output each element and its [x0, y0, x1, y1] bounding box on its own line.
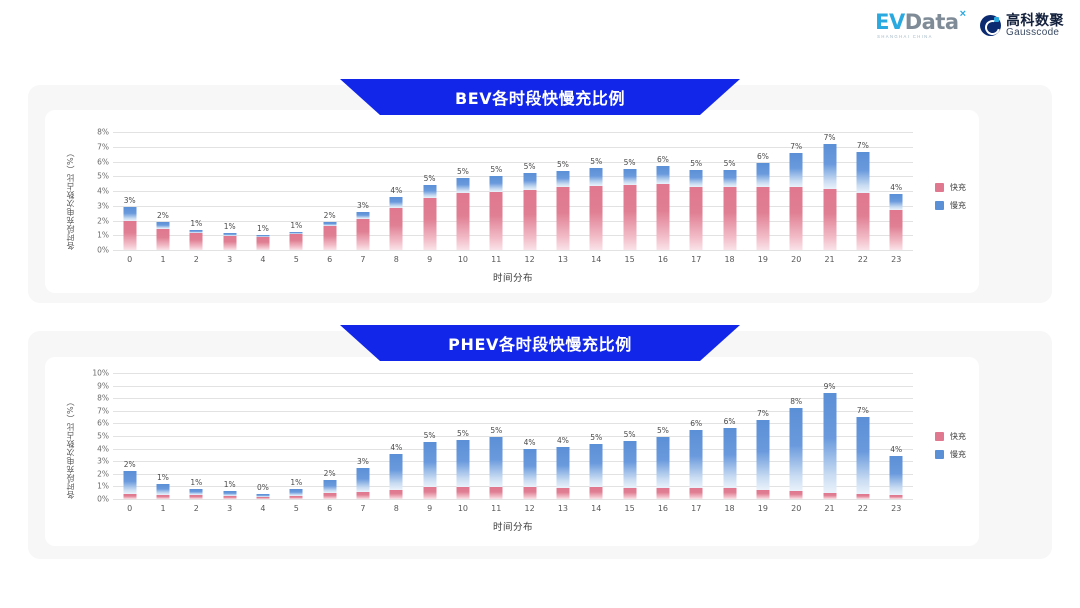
- bev-bar-group[interactable]: 3%0: [113, 132, 146, 250]
- bev-slow-charge-segment: [423, 185, 436, 198]
- phev-bar-group[interactable]: 9%21: [813, 373, 846, 499]
- bev-x-tick-label: 9: [427, 255, 432, 264]
- phev-slow-charge-segment: [123, 471, 136, 494]
- bev-stacked-bar[interactable]: [356, 212, 369, 250]
- phev-slow-charge-segment: [156, 484, 169, 495]
- bev-bar-group[interactable]: 5%18: [713, 132, 746, 250]
- bev-bar-value-label: 5%: [424, 174, 436, 183]
- bev-stacked-bar[interactable]: [256, 235, 269, 250]
- phev-slow-charge-segment: [656, 437, 669, 488]
- phev-slow-charge-segment: [423, 442, 436, 487]
- bev-x-tick-label: 5: [294, 255, 299, 264]
- bev-stacked-bar[interactable]: [190, 230, 203, 250]
- phev-x-tick-label: 13: [558, 504, 568, 513]
- bev-bar-group[interactable]: 5%14: [580, 132, 613, 250]
- bev-bar-group[interactable]: 1%3: [213, 132, 246, 250]
- bev-fast-charge-segment: [490, 192, 503, 250]
- bev-y-tick-label: 0%: [97, 246, 109, 255]
- phev-stacked-bar[interactable]: [290, 489, 303, 499]
- phev-bar-group[interactable]: 1%3: [213, 373, 246, 499]
- phev-bar-value-label: 5%: [490, 426, 502, 435]
- bev-bar-group[interactable]: 1%2: [180, 132, 213, 250]
- phev-stacked-bar[interactable]: [423, 442, 436, 499]
- phev-fast-charge-segment: [723, 488, 736, 499]
- phev-stacked-bar[interactable]: [323, 480, 336, 499]
- phev-stacked-bar[interactable]: [156, 484, 169, 499]
- phev-stacked-bar[interactable]: [856, 417, 869, 499]
- bev-x-tick-label: 23: [891, 255, 901, 264]
- bev-x-axis-label: 时间分布: [113, 270, 913, 284]
- phev-bar-group[interactable]: 4%12: [513, 373, 546, 499]
- bev-y-tick-label: 6%: [97, 157, 109, 166]
- phev-stacked-bar[interactable]: [790, 408, 803, 499]
- bev-bar-value-label: 4%: [390, 186, 402, 195]
- bev-slow-charge-segment: [156, 222, 169, 229]
- bev-fast-charge-segment: [656, 184, 669, 250]
- evdata-wordmark: EVData: [875, 12, 958, 33]
- bev-bar-group[interactable]: 5%15: [613, 132, 646, 250]
- phev-y-axis-label: 各时段充电次数占比（%）: [65, 373, 76, 499]
- phev-bar-value-label: 8%: [790, 397, 802, 406]
- bev-x-tick-label: 18: [724, 255, 734, 264]
- phev-y-tick-label: 10%: [92, 369, 109, 378]
- bev-bar-value-label: 5%: [590, 157, 602, 166]
- phev-slow-charge-segment: [456, 440, 469, 487]
- phev-stacked-bar[interactable]: [390, 454, 403, 499]
- bev-x-tick-label: 0: [127, 255, 132, 264]
- bev-bar-group[interactable]: 4%23: [880, 132, 913, 250]
- bev-bar-group[interactable]: 5%17: [680, 132, 713, 250]
- bev-stacked-bar[interactable]: [523, 173, 536, 250]
- phev-bar-value-label: 5%: [624, 430, 636, 439]
- phev-fast-charge-segment: [590, 487, 603, 499]
- phev-bar-group[interactable]: 5%11: [480, 373, 513, 499]
- bev-chart-panel: 各时段充电次数占比（%）0%1%2%3%4%5%6%7%8%3%02%11%21…: [45, 110, 979, 293]
- bev-x-tick-label: 14: [591, 255, 601, 264]
- bev-fast-charge-segment: [856, 193, 869, 250]
- evdata-logo: EVData × SHANGHAI CHINA: [875, 12, 966, 39]
- phev-stacked-bar[interactable]: [523, 449, 536, 499]
- bev-slow-charge-segment: [356, 212, 369, 219]
- bev-stacked-bar[interactable]: [623, 169, 636, 250]
- bev-slow-charge-segment: [123, 207, 136, 221]
- gausscode-mark-icon: [980, 15, 1001, 36]
- phev-x-tick-label: 20: [791, 504, 801, 513]
- bev-stacked-bar[interactable]: [723, 170, 736, 250]
- bev-x-tick-label: 4: [260, 255, 265, 264]
- bev-bar-group[interactable]: 5%13: [546, 132, 579, 250]
- phev-stacked-bar[interactable]: [256, 494, 269, 499]
- phev-x-tick-label: 21: [824, 504, 834, 513]
- phev-stacked-bar[interactable]: [756, 420, 769, 499]
- gausscode-en-name: Gausscode: [1006, 28, 1064, 39]
- phev-x-tick-label: 15: [624, 504, 634, 513]
- phev-bar-group[interactable]: 3%7: [346, 373, 379, 499]
- phev-y-tick-label: 3%: [97, 457, 109, 466]
- bev-fast-charge-segment: [590, 186, 603, 250]
- bev-bar-value-label: 1%: [190, 219, 202, 228]
- phev-bar-value-label: 5%: [424, 431, 436, 440]
- bev-slow-charge-segment: [490, 176, 503, 191]
- phev-bar-value-label: 4%: [557, 436, 569, 445]
- bev-bar-value-label: 7%: [857, 141, 869, 150]
- phev-stacked-bar[interactable]: [123, 471, 136, 499]
- bev-stacked-bar[interactable]: [223, 233, 236, 250]
- phev-legend-item[interactable]: 快充: [935, 431, 966, 442]
- phev-bar-value-label: 3%: [357, 457, 369, 466]
- phev-chart-panel: 各时段充电次数占比（%）0%1%2%3%4%5%6%7%8%9%10%2%01%…: [45, 357, 979, 546]
- bev-title-banner: BEV各时段快慢充比例: [340, 79, 740, 115]
- phev-fast-charge-segment: [123, 494, 136, 499]
- bev-fast-charge-segment: [390, 208, 403, 250]
- bev-x-tick-label: 11: [491, 255, 501, 264]
- phev-slow-charge-segment: [790, 408, 803, 491]
- phev-fast-charge-segment: [423, 487, 436, 499]
- bev-y-tick-label: 7%: [97, 142, 109, 151]
- phev-y-tick-label: 2%: [97, 469, 109, 478]
- bev-fast-charge-segment: [690, 187, 703, 250]
- bev-stacked-bar[interactable]: [856, 152, 869, 250]
- bev-x-tick-label: 3: [227, 255, 232, 264]
- bev-x-tick-label: 1: [160, 255, 165, 264]
- bev-fast-charge-segment: [790, 187, 803, 250]
- bev-stacked-bar[interactable]: [556, 171, 569, 250]
- phev-legend-label: 快充: [950, 431, 966, 442]
- phev-x-tick-label: 9: [427, 504, 432, 513]
- bev-bar-series: 3%02%11%21%31%41%52%63%74%85%95%105%115%…: [113, 132, 913, 250]
- phev-slow-charge-segment: [623, 441, 636, 488]
- phev-bar-group[interactable]: 5%9: [413, 373, 446, 499]
- bev-x-tick-label: 8: [394, 255, 399, 264]
- phev-slow-charge-segment: [723, 428, 736, 488]
- bev-fast-charge-segment: [723, 187, 736, 250]
- logo-group: EVData × SHANGHAI CHINA 高科数聚 Gausscode: [875, 12, 1064, 39]
- phev-x-tick-label: 3: [227, 504, 232, 513]
- bev-fast-charge-segment: [890, 210, 903, 250]
- bev-bar-group[interactable]: 1%4: [246, 132, 279, 250]
- bev-bar-group[interactable]: 4%8: [380, 132, 413, 250]
- bev-bar-group[interactable]: 5%10: [446, 132, 479, 250]
- bev-stacked-bar[interactable]: [823, 144, 836, 250]
- phev-bar-group[interactable]: 5%14: [580, 373, 613, 499]
- bev-bar-group[interactable]: 6%19: [746, 132, 779, 250]
- phev-x-tick-label: 19: [758, 504, 768, 513]
- bev-y-tick-label: 1%: [97, 231, 109, 240]
- bev-bar-value-label: 2%: [324, 211, 336, 220]
- phev-stacked-bar[interactable]: [623, 441, 636, 499]
- phev-fast-charge-segment: [456, 487, 469, 499]
- phev-x-tick-label: 8: [394, 504, 399, 513]
- bev-y-axis-label: 各时段充电次数占比（%）: [65, 132, 76, 250]
- phev-slow-charge-segment: [490, 437, 503, 486]
- phev-x-tick-label: 4: [260, 504, 265, 513]
- bev-bar-value-label: 7%: [824, 133, 836, 142]
- bev-x-tick-label: 15: [624, 255, 634, 264]
- phev-bar-value-label: 5%: [657, 426, 669, 435]
- bev-fast-charge-segment: [290, 234, 303, 250]
- bev-legend: 快充慢充: [935, 182, 966, 211]
- bev-x-tick-label: 6: [327, 255, 332, 264]
- phev-y-tick-label: 9%: [97, 381, 109, 390]
- bev-x-tick-label: 13: [558, 255, 568, 264]
- phev-stacked-bar[interactable]: [456, 440, 469, 499]
- phev-y-tick-label: 7%: [97, 406, 109, 415]
- bev-stacked-bar[interactable]: [123, 207, 136, 250]
- phev-slow-charge-segment: [823, 393, 836, 493]
- bev-y-tick-label: 8%: [97, 128, 109, 137]
- phev-stacked-bar[interactable]: [556, 447, 569, 499]
- phev-slow-charge-segment: [556, 447, 569, 487]
- phev-bar-group[interactable]: 6%17: [680, 373, 713, 499]
- bev-fast-charge-segment: [223, 236, 236, 250]
- bev-gridline: [113, 250, 913, 251]
- bev-fast-charge-segment: [123, 221, 136, 250]
- phev-slow-charge-segment: [756, 420, 769, 490]
- bev-stacked-bar[interactable]: [490, 176, 503, 250]
- bev-fast-charge-segment: [756, 187, 769, 250]
- bev-bar-value-label: 5%: [457, 167, 469, 176]
- bev-x-tick-label: 12: [525, 255, 535, 264]
- phev-bar-value-label: 1%: [190, 478, 202, 487]
- phev-x-tick-label: 16: [658, 504, 668, 513]
- phev-stacked-bar[interactable]: [356, 468, 369, 500]
- phev-bar-group[interactable]: 2%0: [113, 373, 146, 499]
- phev-bar-value-label: 5%: [457, 429, 469, 438]
- phev-slow-charge-segment: [290, 489, 303, 496]
- phev-bar-group[interactable]: 5%10: [446, 373, 479, 499]
- bev-stacked-bar[interactable]: [656, 166, 669, 250]
- bev-stacked-bar[interactable]: [790, 153, 803, 250]
- phev-stacked-bar[interactable]: [223, 491, 236, 499]
- bev-stacked-bar[interactable]: [323, 222, 336, 250]
- phev-bar-value-label: 4%: [524, 438, 536, 447]
- bev-slow-charge-segment: [856, 152, 869, 193]
- phev-fast-charge-segment: [823, 493, 836, 499]
- bev-fast-charge-segment: [456, 193, 469, 250]
- phev-bar-group[interactable]: 5%16: [646, 373, 679, 499]
- bev-fast-charge-segment: [423, 198, 436, 250]
- phev-stacked-bar[interactable]: [190, 489, 203, 499]
- phev-stacked-bar[interactable]: [890, 456, 903, 499]
- bev-y-tick-label: 5%: [97, 172, 109, 181]
- phev-bar-value-label: 0%: [257, 483, 269, 492]
- phev-chart: 各时段充电次数占比（%）0%1%2%3%4%5%6%7%8%9%10%2%01%…: [45, 357, 979, 546]
- phev-fast-charge-segment: [323, 493, 336, 499]
- phev-bar-value-label: 1%: [290, 478, 302, 487]
- bev-title-text: BEV各时段快慢充比例: [455, 85, 625, 109]
- bev-bar-group[interactable]: 5%12: [513, 132, 546, 250]
- phev-bar-value-label: 2%: [124, 460, 136, 469]
- phev-bar-value-label: 4%: [890, 445, 902, 454]
- phev-fast-charge-segment: [156, 495, 169, 499]
- phev-fast-charge-segment: [390, 490, 403, 499]
- bev-stacked-bar[interactable]: [756, 163, 769, 250]
- phev-x-tick-label: 17: [691, 504, 701, 513]
- phev-slow-charge-segment: [390, 454, 403, 490]
- phev-y-tick-label: 6%: [97, 419, 109, 428]
- phev-fast-charge-segment: [223, 496, 236, 499]
- bev-slow-charge-segment: [656, 166, 669, 184]
- phev-stacked-bar[interactable]: [656, 437, 669, 499]
- phev-slow-charge-segment: [590, 444, 603, 488]
- bev-legend-item[interactable]: 慢充: [935, 200, 966, 211]
- bev-y-tick-label: 2%: [97, 216, 109, 225]
- phev-x-tick-label: 14: [591, 504, 601, 513]
- phev-bar-value-label: 6%: [724, 417, 736, 426]
- phev-x-tick-label: 18: [724, 504, 734, 513]
- phev-x-tick-label: 2: [194, 504, 199, 513]
- phev-x-tick-label: 6: [327, 504, 332, 513]
- evdata-x-icon: ×: [960, 9, 966, 20]
- phev-bar-value-label: 5%: [590, 433, 602, 442]
- bev-x-tick-label: 16: [658, 255, 668, 264]
- bev-bar-group[interactable]: 3%7: [346, 132, 379, 250]
- phev-fast-charge-segment: [190, 495, 203, 499]
- phev-y-tick-label: 5%: [97, 432, 109, 441]
- phev-gridline: [113, 499, 913, 500]
- bev-bar-value-label: 5%: [557, 160, 569, 169]
- phev-bar-group[interactable]: 2%6: [313, 373, 346, 499]
- phev-slow-charge-segment: [523, 449, 536, 488]
- phev-bar-value-label: 7%: [857, 406, 869, 415]
- phev-fast-charge-segment: [656, 488, 669, 499]
- bev-fast-charge-segment: [556, 187, 569, 250]
- phev-bar-value-label: 1%: [157, 473, 169, 482]
- phev-fast-charge-segment: [256, 497, 269, 499]
- phev-slow-charge-segment: [890, 456, 903, 495]
- phev-x-tick-label: 11: [491, 504, 501, 513]
- bev-stacked-bar[interactable]: [156, 222, 169, 250]
- bev-slow-charge-segment: [590, 168, 603, 186]
- bev-bar-group[interactable]: 6%16: [646, 132, 679, 250]
- phev-fast-charge-segment: [756, 490, 769, 499]
- bev-stacked-bar[interactable]: [590, 168, 603, 250]
- evdata-data-text: Data: [905, 10, 959, 34]
- evdata-ev-text: EV: [875, 10, 905, 34]
- phev-bar-group[interactable]: 6%18: [713, 373, 746, 499]
- phev-stacked-bar[interactable]: [490, 437, 503, 499]
- bev-y-tick-label: 3%: [97, 201, 109, 210]
- gausscode-cn-name: 高科数聚: [1006, 13, 1064, 28]
- bev-bar-group[interactable]: 7%22: [846, 132, 879, 250]
- legend-swatch-icon: [935, 432, 944, 441]
- bev-plot-area: 0%1%2%3%4%5%6%7%8%3%02%11%21%31%41%52%63…: [113, 132, 913, 250]
- bev-bar-value-label: 7%: [790, 142, 802, 151]
- phev-x-tick-label: 12: [525, 504, 535, 513]
- phev-bar-group[interactable]: 7%19: [746, 373, 779, 499]
- bev-bar-group[interactable]: 5%9: [413, 132, 446, 250]
- bev-fast-charge-segment: [623, 185, 636, 250]
- bev-bar-group[interactable]: 7%20: [780, 132, 813, 250]
- bev-slow-charge-segment: [690, 170, 703, 187]
- phev-bar-group[interactable]: 7%22: [846, 373, 879, 499]
- phev-bar-group[interactable]: 0%4: [246, 373, 279, 499]
- bev-stacked-bar[interactable]: [890, 194, 903, 250]
- bev-bar-group[interactable]: 5%11: [480, 132, 513, 250]
- phev-fast-charge-segment: [623, 488, 636, 499]
- phev-plot-area: 0%1%2%3%4%5%6%7%8%9%10%2%01%11%21%30%41%…: [113, 373, 913, 499]
- phev-legend-label: 慢充: [950, 449, 966, 460]
- phev-stacked-bar[interactable]: [590, 444, 603, 499]
- bev-x-tick-label: 20: [791, 255, 801, 264]
- phev-bar-group[interactable]: 4%8: [380, 373, 413, 499]
- phev-x-tick-label: 0: [127, 504, 132, 513]
- phev-stacked-bar[interactable]: [690, 430, 703, 499]
- bev-y-tick-label: 4%: [97, 187, 109, 196]
- bev-stacked-bar[interactable]: [390, 197, 403, 250]
- bev-bar-value-label: 6%: [757, 152, 769, 161]
- phev-legend-item[interactable]: 慢充: [935, 449, 966, 460]
- phev-stacked-bar[interactable]: [823, 393, 836, 499]
- phev-bar-group[interactable]: 4%23: [880, 373, 913, 499]
- legend-swatch-icon: [935, 183, 944, 192]
- bev-stacked-bar[interactable]: [690, 170, 703, 250]
- phev-bar-group[interactable]: 5%15: [613, 373, 646, 499]
- bev-x-tick-label: 17: [691, 255, 701, 264]
- bev-bar-value-label: 4%: [890, 183, 902, 192]
- bev-fast-charge-segment: [356, 219, 369, 250]
- bev-slow-charge-segment: [890, 194, 903, 210]
- phev-bar-group[interactable]: 1%2: [180, 373, 213, 499]
- bev-slow-charge-segment: [456, 178, 469, 193]
- bev-fast-charge-segment: [190, 233, 203, 250]
- phev-x-tick-label: 1: [160, 504, 165, 513]
- phev-fast-charge-segment: [290, 496, 303, 499]
- bev-bar-value-label: 1%: [290, 221, 302, 230]
- phev-bar-group[interactable]: 1%5: [280, 373, 313, 499]
- phev-bar-value-label: 9%: [824, 382, 836, 391]
- bev-chart: 各时段充电次数占比（%）0%1%2%3%4%5%6%7%8%3%02%11%21…: [45, 110, 979, 293]
- bev-slow-charge-segment: [390, 197, 403, 208]
- phev-fast-charge-segment: [523, 487, 536, 499]
- phev-bar-group[interactable]: 4%13: [546, 373, 579, 499]
- bev-legend-item[interactable]: 快充: [935, 182, 966, 193]
- phev-fast-charge-segment: [856, 494, 869, 499]
- bev-bar-group[interactable]: 2%6: [313, 132, 346, 250]
- bev-bar-value-label: 3%: [124, 196, 136, 205]
- evdata-subtitle: SHANGHAI CHINA: [875, 35, 933, 39]
- bev-legend-label: 慢充: [950, 200, 966, 211]
- bev-slow-charge-segment: [756, 163, 769, 187]
- bev-bar-value-label: 5%: [490, 165, 502, 174]
- bev-bar-group[interactable]: 7%21: [813, 132, 846, 250]
- bev-bar-value-label: 5%: [690, 159, 702, 168]
- phev-stacked-bar[interactable]: [723, 428, 736, 499]
- bev-stacked-bar[interactable]: [290, 232, 303, 250]
- phev-fast-charge-segment: [356, 492, 369, 499]
- phev-legend: 快充慢充: [935, 431, 966, 460]
- bev-stacked-bar[interactable]: [423, 185, 436, 250]
- legend-swatch-icon: [935, 450, 944, 459]
- bev-bar-group[interactable]: 1%5: [280, 132, 313, 250]
- phev-fast-charge-segment: [890, 495, 903, 499]
- bev-fast-charge-segment: [823, 189, 836, 250]
- bev-bar-value-label: 2%: [157, 211, 169, 220]
- phev-bar-group[interactable]: 8%20: [780, 373, 813, 499]
- bev-slow-charge-segment: [523, 173, 536, 189]
- phev-y-tick-label: 0%: [97, 495, 109, 504]
- bev-slow-charge-segment: [623, 169, 636, 185]
- phev-bar-group[interactable]: 1%1: [146, 373, 179, 499]
- phev-bar-value-label: 6%: [690, 419, 702, 428]
- bev-stacked-bar[interactable]: [456, 178, 469, 250]
- bev-legend-label: 快充: [950, 182, 966, 193]
- phev-bar-value-label: 7%: [757, 409, 769, 418]
- phev-y-tick-label: 8%: [97, 394, 109, 403]
- bev-x-tick-label: 10: [458, 255, 468, 264]
- phev-y-tick-label: 4%: [97, 444, 109, 453]
- bev-bar-group[interactable]: 2%1: [146, 132, 179, 250]
